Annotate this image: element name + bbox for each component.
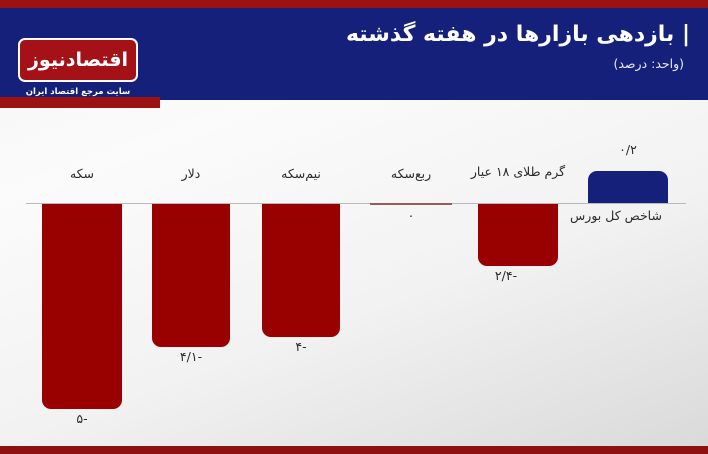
header-top-red-stripe (0, 0, 708, 8)
bar-value-label-2: -۴ (231, 339, 371, 354)
footer-red-stripe (0, 446, 708, 454)
logo-tagline: سایت مرجع اقتصاد ایران (18, 87, 138, 97)
bar-value-label-4: -۲/۴ (436, 268, 576, 283)
bar-value-label-0: -۵ (12, 411, 152, 426)
bar-value-label-3: ۰ (341, 208, 481, 223)
bar-1[interactable] (152, 204, 230, 347)
brand-logo[interactable]: اقتصادنیوز سایت مرجع اقتصاد ایران (18, 38, 138, 97)
bar-chart: سکه -۵ دلار -۴/۱ نیم‌سکه -۴ ربع‌سکه ۰ گر… (0, 108, 708, 446)
bar-category-label-4: گرم طلای ۱۸ عیار (448, 164, 588, 179)
bar-value-label-5: ۰/۲ (558, 142, 698, 157)
bar-5[interactable] (588, 171, 668, 203)
bar-3[interactable] (370, 203, 452, 205)
logo-badge: اقتصادنیوز (18, 38, 138, 82)
page-subtitle: (واحد: درصد) (613, 56, 684, 71)
bar-group-4: گرم طلای ۱۸ عیار -۲/۴ (478, 108, 558, 446)
bar-group-1: دلار -۴/۱ (152, 108, 230, 446)
bar-group-0: سکه -۵ (42, 108, 122, 446)
bar-0[interactable] (42, 204, 122, 409)
header-red-accent-strip (0, 97, 160, 108)
bar-group-5: ۰/۲ شاخص کل بورس (588, 108, 668, 446)
page-title: | بازدهی بازارها در هفته گذشته (346, 22, 690, 47)
bar-2[interactable] (262, 204, 340, 337)
bar-category-label-5: شاخص کل بورس (546, 208, 686, 223)
logo-wordmark: اقتصادنیوز (28, 49, 128, 71)
chart-zero-baseline (26, 203, 686, 204)
infographic-poster: | بازدهی بازارها در هفته گذشته (واحد: در… (0, 0, 708, 454)
bar-group-2: نیم‌سکه -۴ (262, 108, 340, 446)
